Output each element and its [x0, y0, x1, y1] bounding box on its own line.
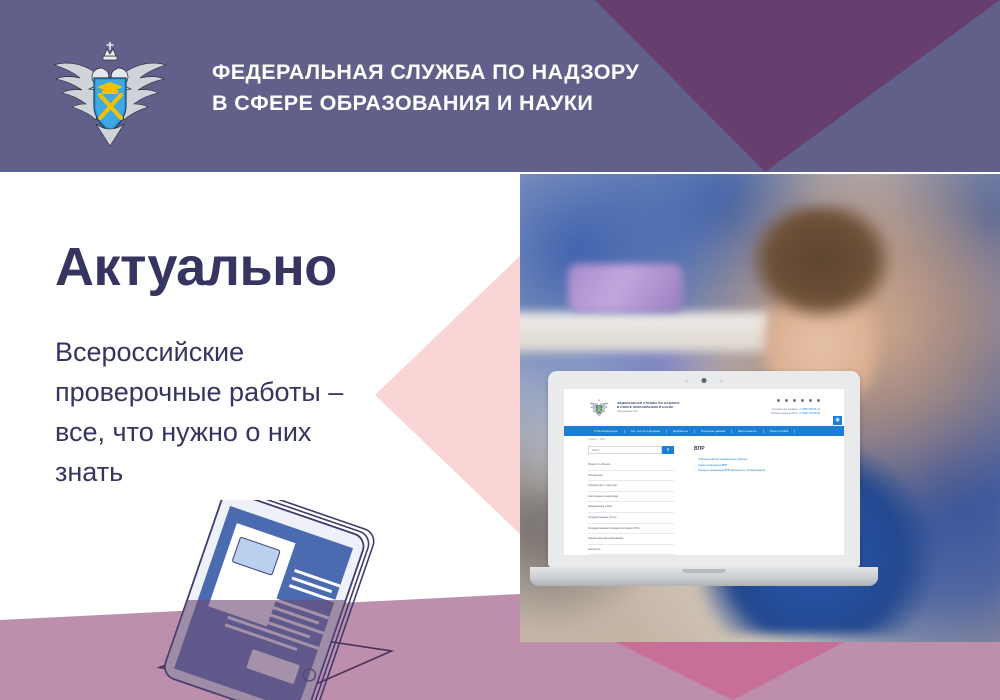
ok-icon[interactable] [809, 399, 812, 402]
site-content: ВПР ▪ О Всероссийских проверочных работа… [682, 446, 820, 555]
rosobrnadzor-emblem-icon [44, 38, 176, 150]
site-search[interactable]: ⚲ [588, 446, 674, 454]
chevron-down-icon: › [671, 484, 672, 488]
youtube-icon[interactable] [801, 399, 804, 402]
chevron-down-icon: › [671, 516, 672, 520]
laptop-line-illustration [140, 500, 400, 700]
header-title: ФЕДЕРАЛЬНАЯ СЛУЖБА ПО НАДЗОРУ В СФЕРЕ ОБ… [212, 57, 639, 119]
classroom-photo: ФЕДЕРАЛЬНАЯ СЛУЖБА ПО НАДЗОРУ В СФЕРЕ ОБ… [520, 174, 1000, 642]
sensor-dot-right [721, 380, 723, 382]
contact-label: Телефон для справок: [772, 408, 798, 411]
site-org-name: ФЕДЕРАЛЬНАЯ СЛУЖБА ПО НАДЗОРУ В СФЕРЕ ОБ… [617, 401, 680, 410]
page-title: ВПР [694, 446, 820, 452]
page-subtitle: Всероссийские проверочные работы – все, … [55, 332, 425, 492]
telegram-icon[interactable] [785, 399, 788, 402]
site-social-icons[interactable] [777, 399, 820, 402]
site-body: ⚲ Новости и события › Объявления [564, 441, 844, 555]
sidebar-item-analytics[interactable]: Аналитика [588, 545, 674, 555]
laptop-device: ФЕДЕРАЛЬНАЯ СЛУЖБА ПО НАДЗОРУ В СФЕРЕ ОБ… [548, 371, 860, 586]
site-sidebar: ⚲ Новости и события › Объявления [588, 446, 682, 555]
chevron-down-icon: › [671, 495, 672, 499]
nav-item-open-data[interactable]: Открытые данные [695, 430, 732, 433]
sidebar-item-news[interactable]: Новости и события › [588, 460, 674, 471]
nav-item-documents[interactable]: Документы [667, 430, 695, 433]
nav-item-press[interactable]: Пресс-служба [764, 430, 796, 433]
website-view: ФЕДЕРАЛЬНАЯ СЛУЖБА ПО НАДЗОРУ В СФЕРЕ ОБ… [564, 389, 844, 555]
laptop-base [530, 567, 878, 586]
sidebar-item-label: Оценка качества образования [588, 537, 623, 541]
chevron-down-icon: › [671, 463, 672, 467]
chevron-down-icon: › [671, 537, 672, 541]
poster-canvas: ФЕДЕРАЛЬНАЯ СЛУЖБА ПО НАДЗОРУ В СФЕРЕ ОБ… [0, 0, 1000, 700]
contact-row-trust: Телефон доверия ЕГЭ: +7 (495) 104-68-38 [771, 412, 820, 416]
sidebar-item-label: Контрольная и надзорная [588, 495, 618, 499]
sidebar-item-label: Руководство и структура [588, 484, 617, 488]
laptop-screen: ФЕДЕРАЛЬНАЯ СЛУЖБА ПО НАДЗОРУ В СФЕРЕ ОБ… [564, 389, 844, 555]
site-contacts: Телефон для справок: +7 (495) 608-61-21 … [771, 408, 820, 416]
mail-icon[interactable] [817, 399, 820, 402]
webcam-dot-icon [702, 378, 707, 383]
sidebar-item-label: Государственные услуги [588, 516, 616, 520]
sidebar-item-quality[interactable]: Оценка качества образования › [588, 534, 674, 545]
webcam-row [686, 378, 723, 383]
sensor-dot-left [686, 380, 688, 382]
photo-pencil-case [568, 264, 683, 312]
header-purple-triangle [595, 0, 1000, 172]
sidebar-item-label: Аккредитация служб [588, 505, 612, 509]
contact-phone[interactable]: +7 (495) 104-68-38 [799, 412, 820, 415]
content-link-order[interactable]: ▪ Порядок проведения ВПР. Документы, Рек… [694, 468, 820, 474]
search-button[interactable]: ⚲ [662, 446, 674, 454]
sidebar-item-label: Аналитика [588, 548, 600, 552]
sidebar-item-label: Государственная итоговая аттестация (ГИА… [588, 527, 640, 531]
nav-item-about[interactable]: О Рособрнадзоре [588, 430, 625, 433]
sidebar-item-announcements[interactable]: Объявления [588, 471, 674, 482]
bullet-icon: ▪ [694, 468, 695, 474]
nav-item-activity[interactable]: Деятельность [732, 430, 764, 433]
vk-icon[interactable] [777, 399, 780, 402]
site-main-nav[interactable]: О Рособрнадзоре Гос. услуги и функции До… [564, 426, 844, 436]
header-bar: ФЕДЕРАЛЬНАЯ СЛУЖБА ПО НАДЗОРУ В СФЕРЕ ОБ… [0, 0, 1000, 172]
contact-label: Телефон доверия ЕГЭ: [771, 412, 798, 415]
laptop-lid: ФЕДЕРАЛЬНАЯ СЛУЖБА ПО НАДЗОРУ В СФЕРЕ ОБ… [548, 371, 860, 567]
rss-icon[interactable] [793, 399, 796, 402]
site-emblem-icon [588, 399, 610, 417]
site-header: ФЕДЕРАЛЬНАЯ СЛУЖБА ПО НАДЗОРУ В СФЕРЕ ОБ… [564, 389, 844, 426]
sidebar-item-accreditation[interactable]: Аккредитация служб [588, 502, 674, 513]
sidebar-item-gov-services[interactable]: Государственные услуги › [588, 513, 674, 524]
page-kicker: Актуально [55, 236, 337, 298]
sidebar-item-control[interactable]: Контрольная и надзорная › [588, 492, 674, 503]
site-org-subtitle: Официальный сайт [617, 411, 638, 413]
sidebar-item-management[interactable]: Руководство и структура › [588, 481, 674, 492]
search-input[interactable] [588, 446, 662, 454]
contact-phone[interactable]: +7 (495) 608-61-21 [799, 408, 820, 411]
nav-item-services[interactable]: Гос. услуги и функции [625, 430, 668, 433]
sidebar-item-label: Объявления [588, 474, 602, 478]
laptop-notch [682, 569, 726, 573]
eye-accessibility-icon[interactable]: ◉ [833, 416, 842, 425]
sidebar-item-label: Новости и события [588, 463, 610, 467]
content-link-label: Порядок проведения ВПР. Документы, Реком… [698, 468, 765, 474]
sidebar-item-gia[interactable]: Государственная итоговая аттестация (ГИА… [588, 524, 674, 535]
